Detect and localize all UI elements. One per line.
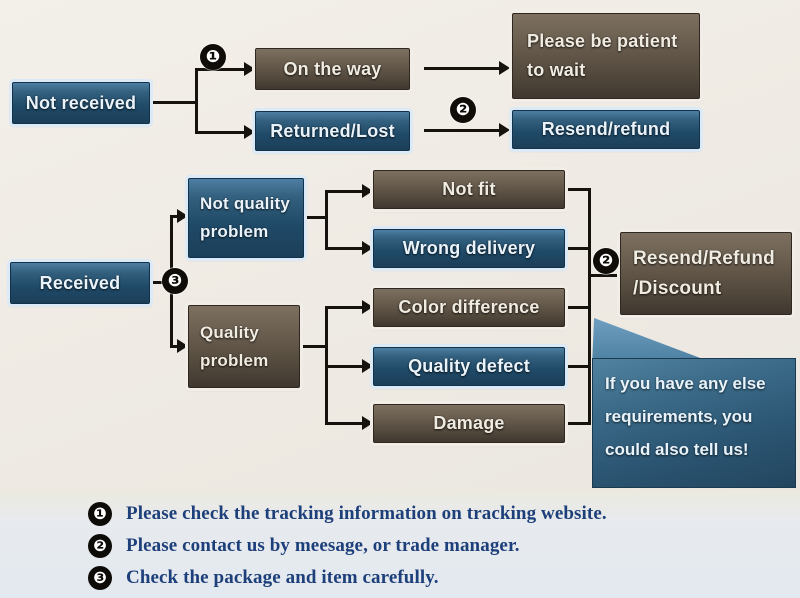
node-label: Not fit bbox=[374, 179, 564, 200]
connector-to-damage bbox=[325, 422, 365, 425]
connector-to-wrong-delivery bbox=[325, 247, 365, 250]
node-returned-lost[interactable]: Returned/Lost bbox=[255, 111, 410, 151]
arrow-to-patient bbox=[499, 61, 510, 75]
connector-returned-to-resend bbox=[424, 129, 502, 132]
legend-item-1: ❶ Please check the tracking information … bbox=[88, 502, 607, 526]
node-label: Quality defect bbox=[374, 356, 564, 377]
arrow-to-color-difference bbox=[362, 300, 373, 314]
node-not-fit[interactable]: Not fit bbox=[373, 170, 565, 209]
node-label: Damage bbox=[374, 413, 564, 434]
node-label-line-1: Please be patient bbox=[527, 31, 699, 60]
node-damage[interactable]: Damage bbox=[373, 404, 565, 443]
node-label-line-2: to wait bbox=[527, 60, 699, 81]
node-on-the-way[interactable]: On the way bbox=[255, 48, 410, 90]
arrow-to-on-the-way bbox=[244, 62, 255, 76]
node-not-quality-problem[interactable]: Not quality problem bbox=[188, 178, 304, 258]
marker-step-3: ❸ bbox=[162, 268, 188, 294]
arrow-to-not-fit bbox=[362, 184, 373, 198]
marker-step-2-top: ❷ bbox=[450, 97, 476, 123]
node-wrong-delivery[interactable]: Wrong delivery bbox=[373, 229, 565, 268]
bubble-line-3: could also tell us! bbox=[605, 433, 785, 466]
node-not-received[interactable]: Not received bbox=[12, 82, 150, 124]
node-label: Not received bbox=[13, 93, 149, 114]
node-label-line-2: /Discount bbox=[633, 278, 791, 300]
arrow-to-quality bbox=[177, 339, 188, 353]
connector-not-quality-split bbox=[325, 190, 328, 250]
connector-to-quality-defect bbox=[325, 365, 365, 368]
node-label-line-1: Resend/Refund bbox=[633, 248, 791, 278]
node-label: Wrong delivery bbox=[374, 238, 564, 259]
legend-label: Please contact us by meesage, or trade m… bbox=[126, 535, 520, 557]
node-label: Resend/refund bbox=[513, 119, 699, 140]
arrow-to-returned-lost bbox=[244, 125, 255, 139]
legend-label: Please check the tracking information on… bbox=[126, 503, 607, 525]
node-quality-problem[interactable]: Quality problem bbox=[188, 305, 300, 388]
legend-panel: ❶ Please check the tracking information … bbox=[0, 490, 800, 598]
marker-step-2-bottom: ❷ bbox=[593, 248, 619, 274]
connector-to-color-difference bbox=[325, 306, 365, 309]
connector-quality-stem bbox=[300, 345, 328, 348]
legend-number: ❷ bbox=[88, 534, 112, 558]
arrow-to-resend-refund bbox=[499, 123, 510, 137]
node-label-line-2: problem bbox=[200, 222, 303, 242]
node-label-line-2: problem bbox=[200, 351, 299, 371]
connector-on-the-way-to-patient bbox=[424, 67, 502, 70]
node-color-difference[interactable]: Color difference bbox=[373, 288, 565, 327]
legend-label: Check the package and item carefully. bbox=[126, 567, 439, 589]
flowchart-canvas: Not received ❶ On the way Returned/Lost … bbox=[0, 0, 800, 598]
arrow-to-damage bbox=[362, 416, 373, 430]
legend-item-3: ❸ Check the package and item carefully. bbox=[88, 566, 439, 590]
node-quality-defect[interactable]: Quality defect bbox=[373, 347, 565, 386]
node-label-line-1: Not quality bbox=[200, 194, 303, 222]
connector-to-not-fit bbox=[325, 190, 365, 193]
bubble-line-2: requirements, you bbox=[605, 400, 785, 433]
connector-to-on-the-way bbox=[195, 68, 247, 71]
bubble-line-1: If you have any else bbox=[605, 367, 785, 400]
connector-merge-bus bbox=[588, 188, 591, 425]
node-resend-refund-discount[interactable]: Resend/Refund /Discount bbox=[620, 232, 792, 315]
node-label: Color difference bbox=[374, 297, 564, 318]
node-received[interactable]: Received bbox=[10, 262, 150, 304]
legend-item-2: ❷ Please contact us by meesage, or trade… bbox=[88, 534, 520, 558]
arrow-to-wrong-delivery bbox=[362, 241, 373, 255]
legend-number: ❶ bbox=[88, 502, 112, 526]
connector-to-returned-lost bbox=[195, 131, 247, 134]
node-label-line-1: Quality bbox=[200, 323, 299, 351]
arrow-to-quality-defect bbox=[362, 359, 373, 373]
connector-not-received-stem bbox=[150, 101, 198, 104]
connector-not-received-split bbox=[195, 68, 198, 134]
arrow-to-not-quality bbox=[177, 209, 188, 223]
speech-bubble: If you have any else requirements, you c… bbox=[592, 318, 796, 488]
connector-bus-to-resend-discount bbox=[588, 274, 620, 277]
marker-step-1: ❶ bbox=[200, 44, 226, 70]
node-resend-refund[interactable]: Resend/refund bbox=[512, 110, 700, 149]
node-label: Received bbox=[11, 273, 149, 294]
legend-number: ❸ bbox=[88, 566, 112, 590]
node-please-be-patient[interactable]: Please be patient to wait bbox=[512, 13, 700, 99]
speech-bubble-body: If you have any else requirements, you c… bbox=[592, 358, 796, 488]
node-label: Returned/Lost bbox=[256, 121, 409, 142]
node-label: On the way bbox=[256, 59, 409, 80]
